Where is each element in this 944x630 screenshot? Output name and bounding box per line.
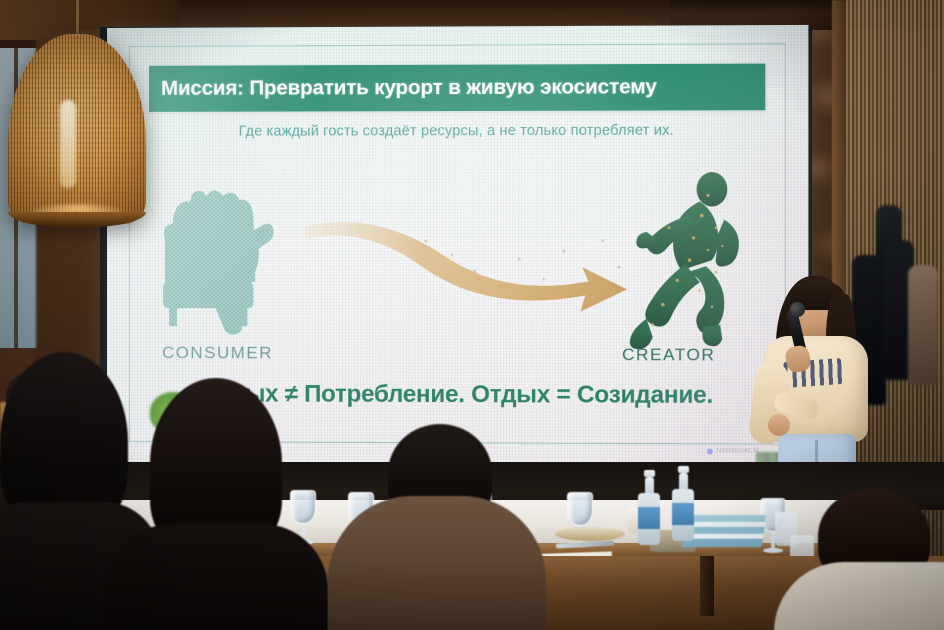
bottle-label: [672, 503, 694, 525]
slide-header-bar: Миссия: Превратить курорт в живую экосис…: [149, 64, 765, 112]
bottle-neck: [645, 477, 654, 493]
slide-subtitle: Где каждый гость создаёт ресурсы, а не т…: [107, 122, 808, 140]
bottle-cap: [644, 470, 655, 477]
audience-body: [328, 496, 546, 630]
goblet-foot: [763, 548, 783, 553]
water-bottle: [672, 466, 694, 541]
lamp-cord: [76, 0, 79, 36]
creator-label: CREATOR: [622, 345, 715, 365]
goblet-bowl: [567, 492, 593, 526]
stacked-booklets: [682, 515, 766, 547]
consumer-label: CONSUMER: [162, 343, 273, 363]
bottle-neck: [679, 473, 688, 489]
bottle-cap: [678, 466, 689, 473]
page-title: Миссия: Превратить курорт в живую экосис…: [149, 75, 657, 101]
bottle-body: [672, 489, 694, 541]
lamp-bulb: [60, 100, 76, 188]
presenter-hand: [768, 414, 790, 436]
notebooklm-watermark: NotebookLM: [707, 447, 759, 454]
notebooklm-icon: [707, 448, 713, 454]
audience-body: [106, 524, 328, 630]
wicker-pendant-lamp: [8, 34, 146, 224]
wooden-plate: [555, 527, 625, 541]
watermark-label: NotebookLM: [716, 447, 759, 454]
bottle-body: [638, 493, 660, 545]
audience-member-center: [330, 424, 540, 630]
audience-member-left-center: [120, 378, 310, 630]
bottle-label: [638, 507, 660, 529]
audience-member-right: [790, 488, 944, 630]
table-leg: [700, 556, 714, 616]
presentation-photo-scene: Миссия: Превратить курорт в живую экосис…: [0, 0, 944, 630]
ceiling-beam: [150, 0, 670, 28]
audience-body: [774, 562, 944, 630]
water-bottle: [638, 470, 660, 545]
creator-runner-icon: [602, 167, 766, 349]
